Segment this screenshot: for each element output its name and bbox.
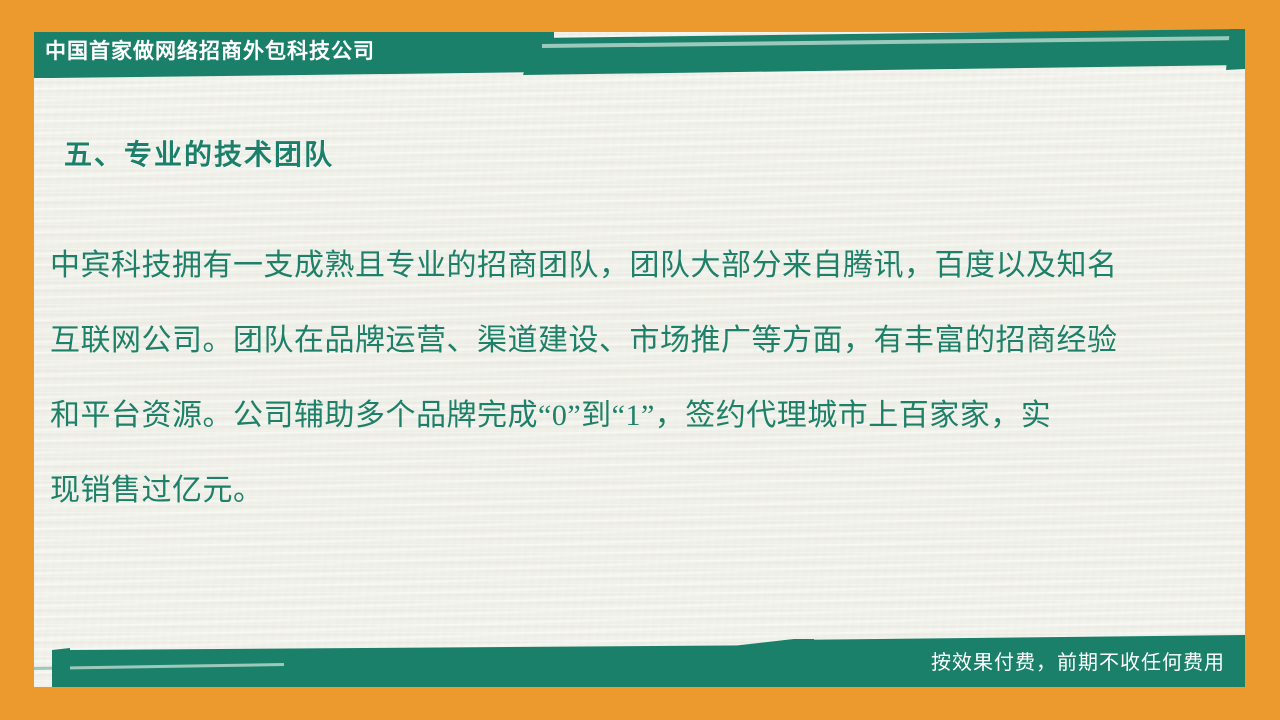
header-banner: 中国首家做网络招商外包科技公司 bbox=[34, 29, 1245, 81]
footer-tagline: 按效果付费，前期不收任何费用 bbox=[931, 646, 1225, 675]
footer-left-notch bbox=[52, 648, 70, 687]
body-line: 和平台资源。公司辅助多个品牌完成“0”到“1”，签约代理城市上百家家，实 bbox=[50, 378, 1180, 453]
body-line: 中宾科技拥有一支成熟且专业的招商团队，团队大部分来自腾讯，百度以及知名 bbox=[50, 228, 1180, 303]
header-right-bar bbox=[523, 29, 1245, 75]
footer-banner: 按效果付费，前期不收任何费用 bbox=[34, 632, 1245, 687]
body-paragraph: 中宾科技拥有一支成熟且专业的招商团队，团队大部分来自腾讯，百度以及知名 互联网公… bbox=[50, 228, 1180, 528]
body-line: 现销售过亿元。 bbox=[50, 453, 1180, 528]
header-title: 中国首家做网络招商外包科技公司 bbox=[45, 37, 565, 67]
body-line: 互联网公司。团队在品牌运营、渠道建设、市场推广等方面，有丰富的招商经验 bbox=[50, 303, 1180, 378]
section-heading: 五、专业的技术团队 bbox=[64, 133, 334, 173]
slide-canvas: 中国首家做网络招商外包科技公司 五、专业的技术团队 中宾科技拥有一支成熟且专业的… bbox=[0, 0, 1280, 720]
